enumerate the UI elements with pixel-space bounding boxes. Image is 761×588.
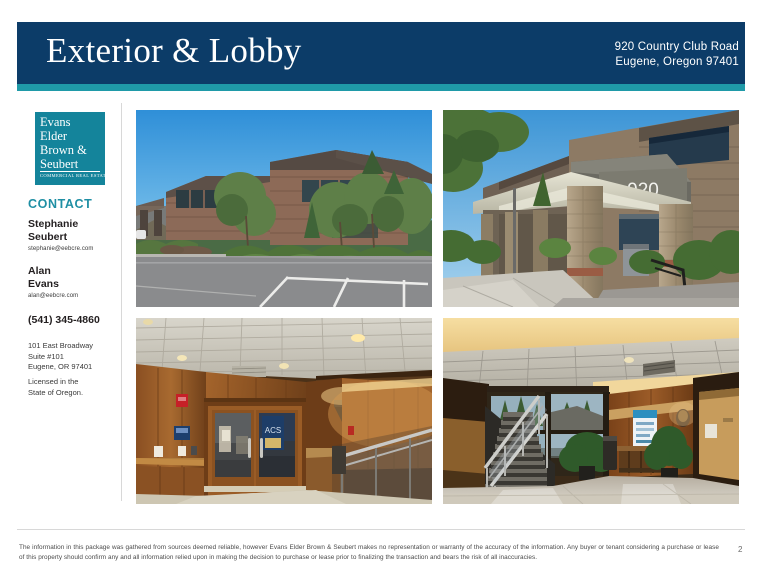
footer-divider <box>17 529 745 530</box>
company-logo: Evans Elder Brown & Seubert COMMERCIAL R… <box>35 112 105 185</box>
office-address: 101 East Broadway Suite #101 Eugene, OR … <box>28 341 93 373</box>
office-address-line-1: 101 East Broadway <box>28 341 93 352</box>
disclaimer-text: The information in this package was gath… <box>19 543 719 563</box>
contact-first-name-1: Stephanie <box>28 218 78 231</box>
contact-last-name-1: Seubert <box>28 231 78 244</box>
photo-exterior-wide <box>136 110 432 307</box>
page-title: Exterior & Lobby <box>46 28 302 74</box>
logo-tagline: COMMERCIAL REAL ESTATE <box>40 173 109 178</box>
license-line-1: Licensed in the <box>28 377 83 388</box>
header-address-line-1: 920 Country Club Road <box>615 40 739 55</box>
contact-phone[interactable]: (541) 345-4860 <box>28 314 100 326</box>
logo-line-3: Brown & <box>40 143 87 157</box>
logo-line-1: Evans <box>40 115 87 129</box>
page-number: 2 <box>738 545 742 554</box>
contact-email-1[interactable]: stephanie@eebcre.com <box>28 245 93 254</box>
logo-line-2: Elder <box>40 129 87 143</box>
office-address-line-2: Suite #101 <box>28 352 93 363</box>
photo-lobby-stairs <box>443 318 739 504</box>
logo-divider-rule <box>40 171 100 172</box>
contact-name-1: Stephanie Seubert <box>28 218 78 243</box>
svg-text:ACS: ACS <box>265 426 281 435</box>
logo-line-4: Seubert <box>40 157 87 171</box>
license-note: Licensed in the State of Oregon. <box>28 377 83 398</box>
header-property-address: 920 Country Club Road Eugene, Oregon 974… <box>615 40 739 70</box>
header-address-line-2: Eugene, Oregon 97401 <box>615 55 739 70</box>
header-accent-bar <box>17 84 745 91</box>
license-line-2: State of Oregon. <box>28 388 83 399</box>
sidebar-divider <box>121 103 122 501</box>
contact-first-name-2: Alan <box>28 265 59 278</box>
logo-wordmark: Evans Elder Brown & Seubert <box>40 115 87 171</box>
contact-name-2: Alan Evans <box>28 265 59 290</box>
contact-email-2[interactable]: alan@eebcre.com <box>28 292 78 301</box>
office-address-line-3: Eugene, OR 97401 <box>28 362 93 373</box>
photo-entrance: 920 <box>443 110 739 307</box>
contact-last-name-2: Evans <box>28 278 59 291</box>
contact-heading: CONTACT <box>28 197 92 211</box>
photo-lobby-doors: ACS <box>136 318 432 504</box>
